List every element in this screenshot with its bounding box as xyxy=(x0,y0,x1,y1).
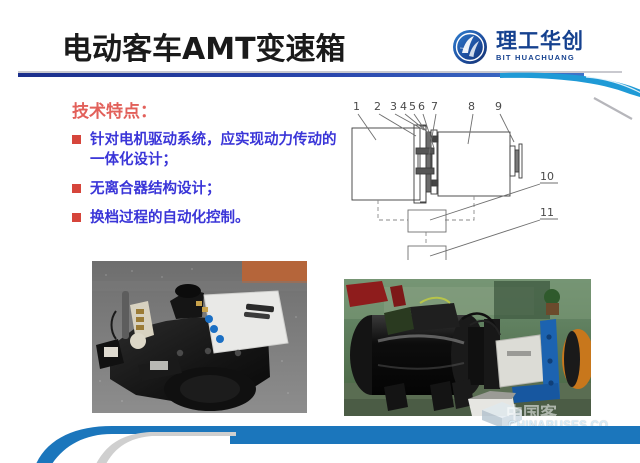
brand-name-cn: 理工华创 xyxy=(496,30,616,52)
callout-1: 1 xyxy=(353,100,360,113)
bullet-square-icon xyxy=(72,213,81,222)
amt-gearbox-assembly-photo xyxy=(92,261,307,413)
callout-7: 7 xyxy=(431,100,438,113)
amt-transmission-schematic: 1 2 3 4 5 6 7 8 9 10 11 xyxy=(344,92,594,260)
brand-logo-text: 理工华创 BIT HUACHUANG xyxy=(496,30,616,62)
list-item: 无离合器结构设计； xyxy=(72,179,340,199)
callout-9: 9 xyxy=(495,100,502,113)
section-subheading: 技术特点： xyxy=(72,97,157,122)
callout-10: 10 xyxy=(540,170,554,183)
list-item: 针对电机驱动系统，应实现动力传动的一体化设计； xyxy=(72,130,340,170)
callout-11: 11 xyxy=(540,206,554,219)
callout-2: 2 xyxy=(374,100,381,113)
footer-swoosh-decoration xyxy=(0,424,640,463)
callout-6: 6 xyxy=(418,100,425,113)
callout-4: 4 xyxy=(400,100,407,113)
bullet-square-icon xyxy=(72,135,81,144)
brand-name-en: BIT HUACHUANG xyxy=(496,53,616,62)
list-item-label: 针对电机驱动系统，应实现动力传动的一体化设计； xyxy=(90,130,340,170)
callout-3: 3 xyxy=(390,100,397,113)
motor-transmission-test-bench-photo xyxy=(344,279,591,416)
page-title: 电动客车AMT变速箱 xyxy=(62,24,346,68)
list-item-label: 换档过程的自动化控制。 xyxy=(90,208,250,228)
bit-huachuang-emblem-icon xyxy=(452,29,488,65)
brand-logo: 理工华创 BIT HUACHUANG xyxy=(452,28,620,68)
callout-5: 5 xyxy=(409,100,416,113)
bullet-square-icon xyxy=(72,184,81,193)
callout-8: 8 xyxy=(468,100,475,113)
slide-canvas: 电动客车AMT变速箱 理工华创 BIT HUACHUANG xyxy=(0,0,640,463)
feature-bullet-list: 针对电机驱动系统，应实现动力传动的一体化设计； 无离合器结构设计； 换档过程的自… xyxy=(72,130,340,237)
list-item-label: 无离合器结构设计； xyxy=(90,179,221,199)
corner-diagonal-decoration xyxy=(592,96,636,122)
list-item: 换档过程的自动化控制。 xyxy=(72,208,340,228)
